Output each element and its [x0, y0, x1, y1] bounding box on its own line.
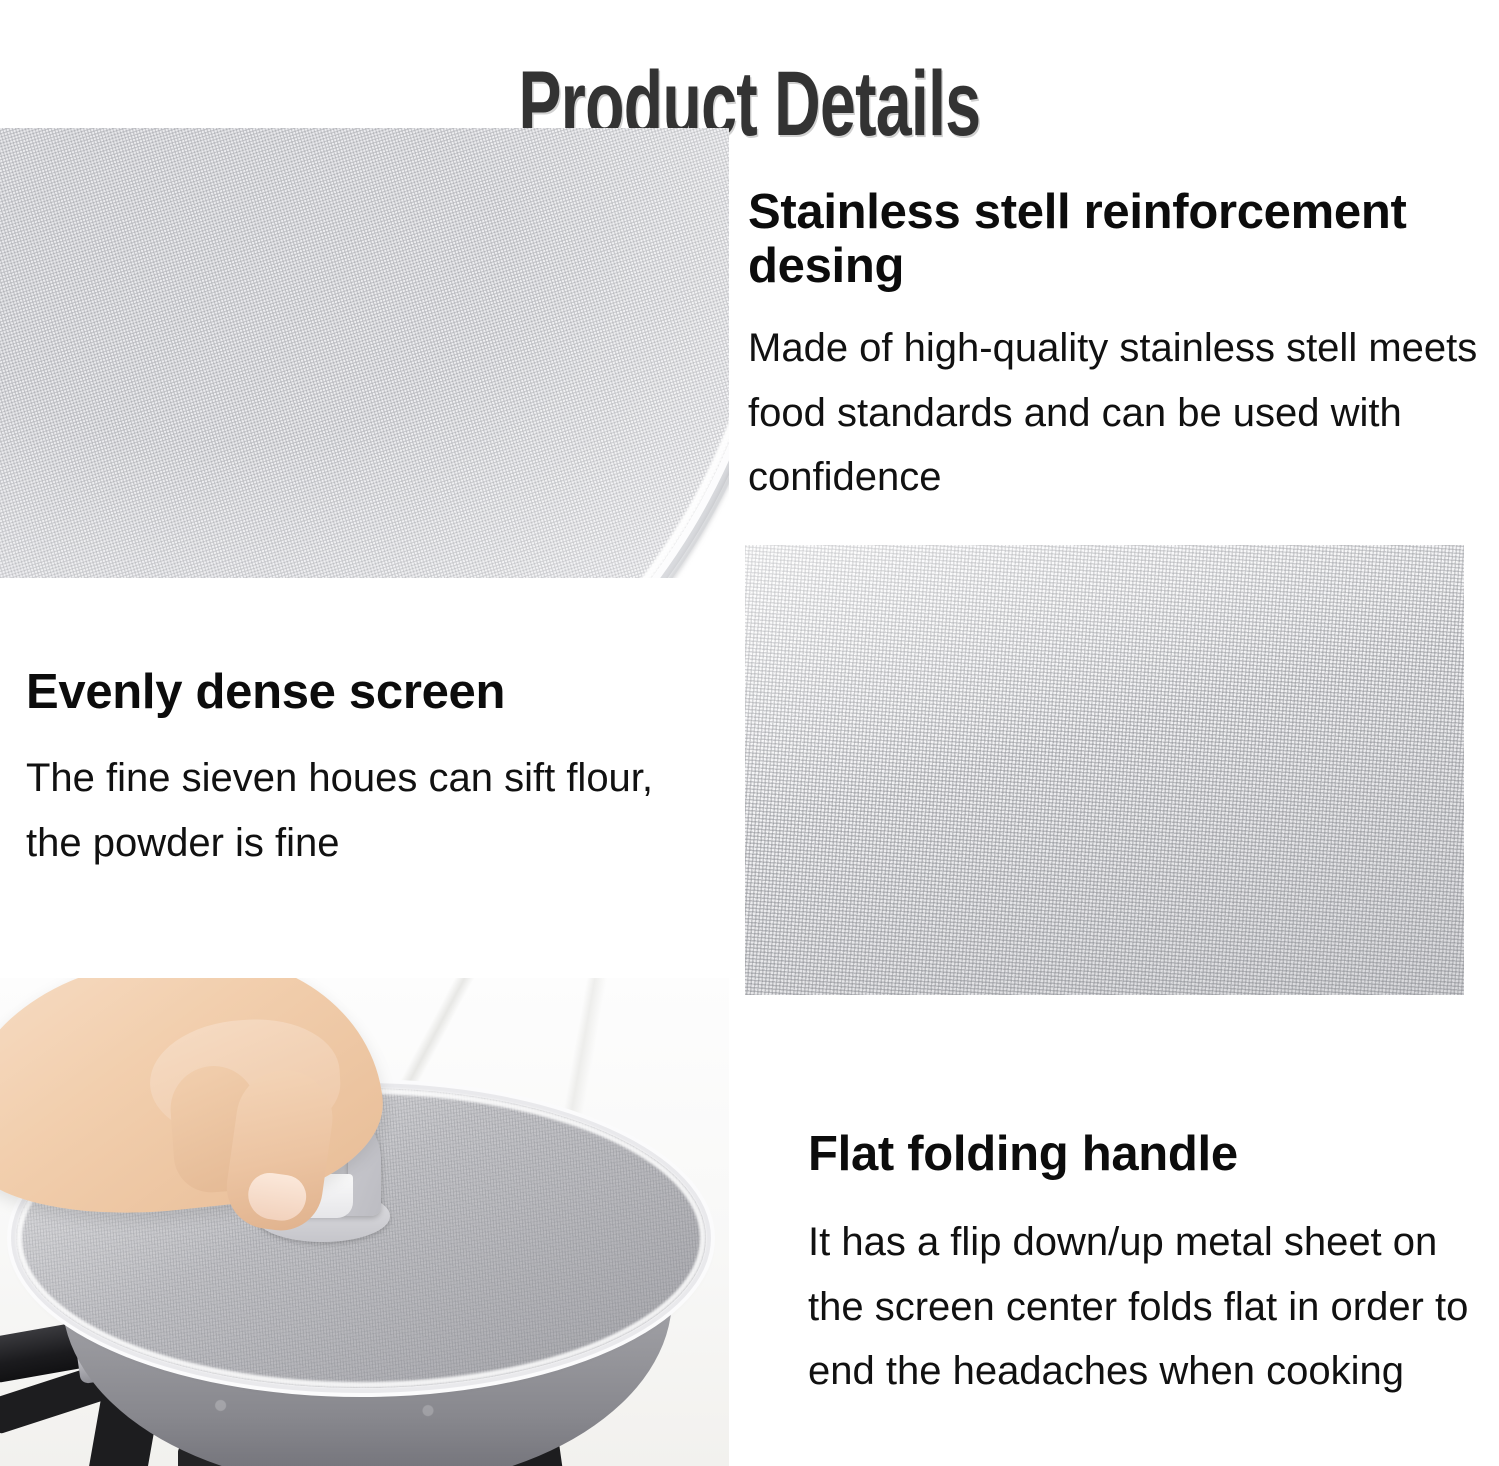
text-block-stainless-steel: Stainless stell reinforcement desing Mad… — [748, 186, 1496, 510]
photo-mesh-texture — [745, 545, 1464, 995]
heading-flat-folding-handle: Flat folding handle — [808, 1128, 1480, 1182]
photo-screen-rim — [0, 128, 729, 578]
heading-stainless-steel: Stainless stell reinforcement desing — [748, 186, 1496, 294]
body-flat-folding-handle: It has a flip down/up metal sheet on the… — [808, 1210, 1480, 1404]
text-block-flat-folding-handle: Flat folding handle It has a flip down/u… — [808, 1128, 1480, 1404]
body-stainless-steel: Made of high-quality stainless stell mee… — [748, 316, 1496, 510]
mesh-sheen — [745, 545, 1464, 995]
body-dense-screen: The fine sieven houes can sift flour, th… — [26, 746, 702, 876]
heading-dense-screen: Evenly dense screen — [26, 666, 702, 720]
photo-vignette — [0, 128, 729, 578]
text-block-dense-screen: Evenly dense screen The fine sieven houe… — [26, 666, 702, 875]
product-details-page: Product Details Stainless stell reinforc… — [0, 0, 1499, 1466]
photo-hand-wok — [0, 978, 729, 1466]
